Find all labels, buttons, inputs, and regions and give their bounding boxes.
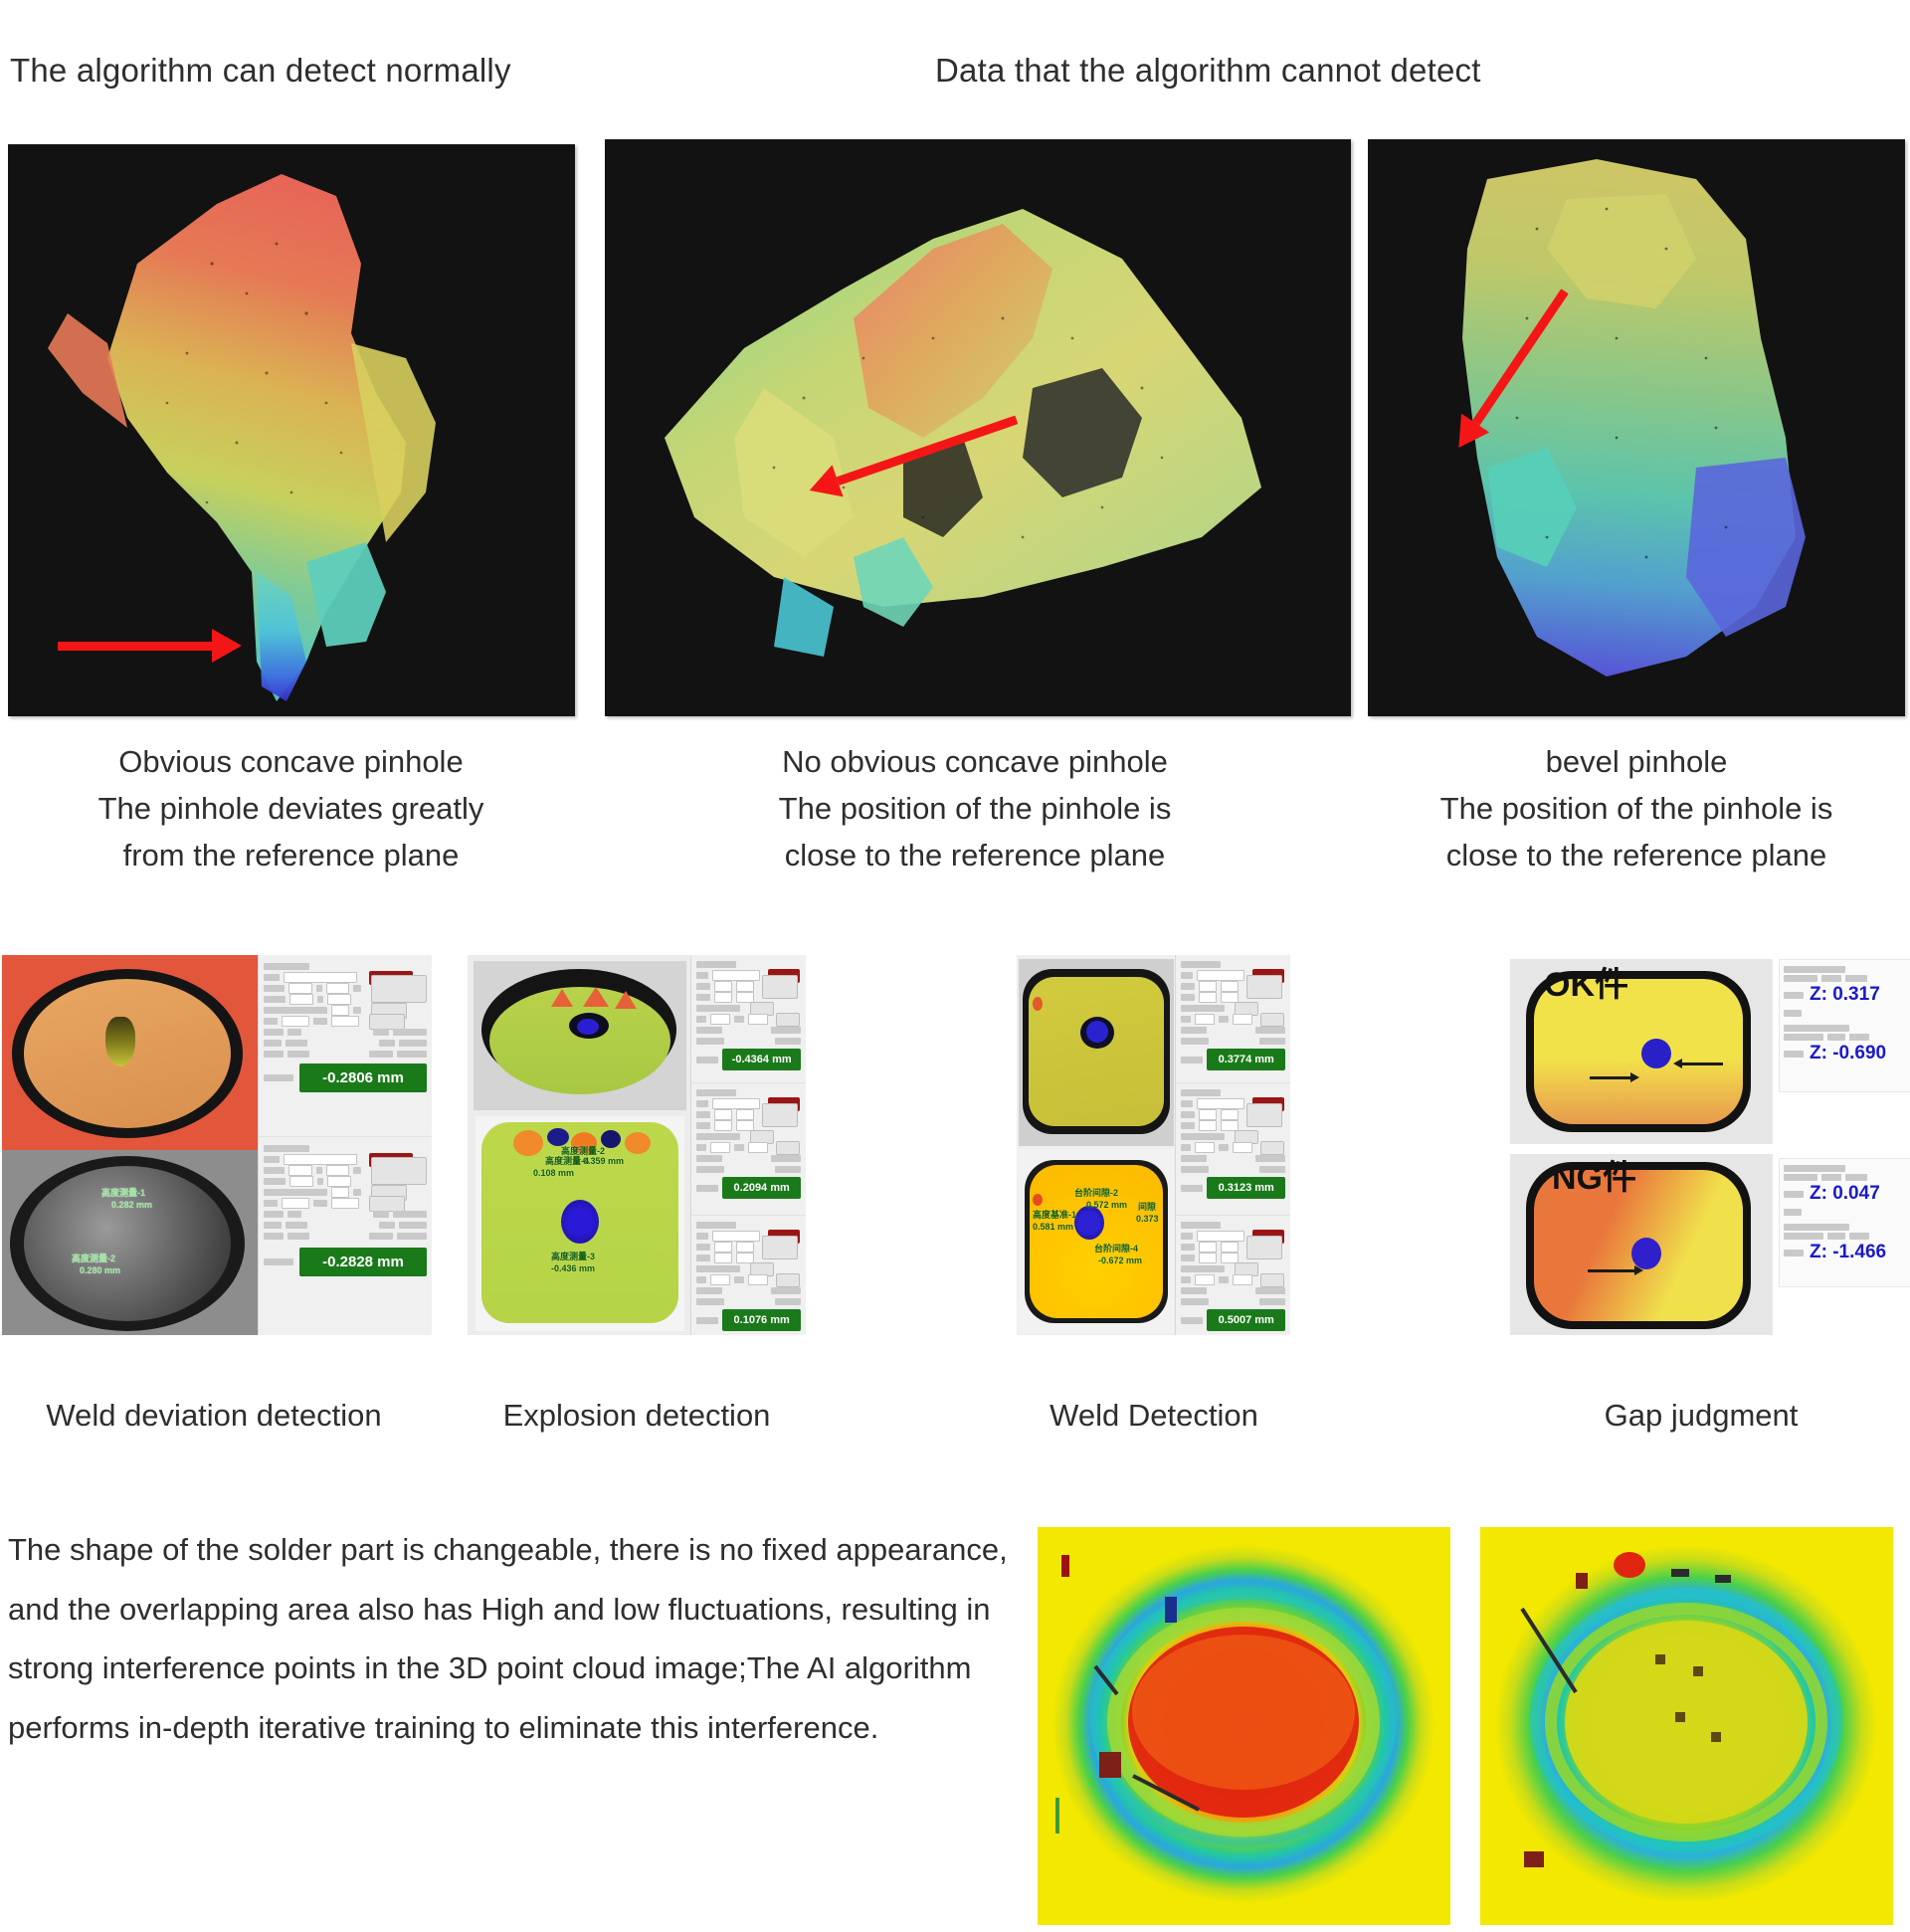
pointcloud-image-1 [8, 144, 575, 716]
explosion-annotation-2-value: 0.359 mm [583, 1156, 624, 1166]
gap-ok-readout: Z: 0.317 Z: -0.690 [1779, 959, 1910, 1092]
weld-deviation-color-view [2, 955, 258, 1150]
gap-ng-z2: Z: -1.466 [1810, 1242, 1886, 1263]
explosion-value-3: 0.1076 mm [722, 1309, 801, 1331]
heading-detectable: The algorithm can detect normally [10, 52, 511, 90]
gap-ok-z1: Z: 0.317 [1810, 984, 1880, 1006]
explosion-value-1: -0.4364 mm [722, 1049, 801, 1070]
weld-annotation-1-value: 0.581 mm [1033, 1222, 1073, 1232]
heatmap-render-1 [1038, 1527, 1450, 1925]
gray-annotation-2-value: 0.280 mm [80, 1265, 120, 1275]
explosion-heatmap-view: 高度测量-2 0.359 mm 高度测量-4 0.108 mm 高度测量-3 -… [476, 1116, 684, 1331]
gap-ok-label: OK件 [1544, 959, 1628, 1006]
detection-caption-1: Weld deviation detection [0, 1398, 428, 1434]
heatmap-image-2 [1480, 1527, 1893, 1925]
gap-ok-image: OK件 [1510, 959, 1773, 1144]
explosion-value-2: 0.2094 mm [722, 1177, 801, 1199]
detection-panel-weld: 台阶间隙-2 0.572 mm 高度基准-1 0.581 mm 台阶间隙-4 -… [1017, 955, 1290, 1335]
gap-ok-z2: Z: -0.690 [1810, 1043, 1886, 1064]
weld-deviation-images: 高度测量-1 0.282 mm 高度测量-2 0.280 mm [2, 955, 258, 1335]
weld-deviation-value-2: -0.2828 mm [299, 1248, 427, 1276]
gap-ng-label: NG件 [1552, 1154, 1636, 1199]
pointcloud-image-2 [605, 139, 1351, 716]
weld-annotation-2-value: 0.572 mm [1086, 1200, 1127, 1210]
pointcloud-image-3 [1368, 139, 1905, 716]
detection-caption-4: Gap judgment [1492, 1398, 1910, 1434]
heading-undetectable: Data that the algorithm cannot detect [935, 52, 1481, 90]
pointcloud-caption-2: No obvious concave pinhole The position … [597, 738, 1353, 878]
gap-ng-readout: Z: 0.047 Z: -1.466 [1779, 1158, 1910, 1287]
weld-annotation-4-value: -0.672 mm [1098, 1256, 1142, 1265]
explosion-images: 高度测量-2 0.359 mm 高度测量-4 0.108 mm 高度测量-3 -… [468, 955, 690, 1335]
weld-deviation-ui-panel[interactable]: -0.2806 mm -0.2828 mm [258, 955, 432, 1335]
detection-caption-3: Weld Detection [995, 1398, 1313, 1434]
pointcloud-caption-1: Obvious concave pinhole The pinhole devi… [0, 738, 582, 878]
pointcloud-caption-3: bevel pinhole The position of the pinhol… [1363, 738, 1910, 878]
weld-value-2: 0.3123 mm [1207, 1177, 1285, 1199]
weld-value-1: 0.3774 mm [1207, 1049, 1285, 1070]
weld-ui-panel[interactable]: 0.3774 mm 0.3123 mm [1175, 955, 1290, 1335]
explosion-ui-panel[interactable]: -0.4364 mm 0.2094 mm [690, 955, 806, 1335]
gray-annotation-1-value: 0.282 mm [111, 1200, 152, 1210]
weld-3d-view [1019, 959, 1174, 1146]
slide-root: The algorithm can detect normally Data t… [0, 0, 1910, 1932]
weld-heatmap-view: 台阶间隙-2 0.572 mm 高度基准-1 0.581 mm 台阶间隙-4 -… [1019, 1150, 1174, 1333]
heatmap-render-2 [1480, 1527, 1893, 1925]
gap-ng-z1: Z: 0.047 [1810, 1183, 1880, 1205]
weld-deviation-gray-view: 高度测量-1 0.282 mm 高度测量-2 0.280 mm [2, 1150, 258, 1335]
detection-caption-2: Explosion detection [448, 1398, 826, 1434]
explosion-3d-view [474, 961, 686, 1110]
gap-ok-row: OK件 Z: 0.317 Z: -0.690 [1504, 959, 1910, 1144]
detection-panel-weld-deviation: 高度测量-1 0.282 mm 高度测量-2 0.280 mm -0.2806 … [2, 955, 432, 1335]
weld-deviation-value-1: -0.2806 mm [299, 1063, 427, 1092]
heatmap-image-1 [1038, 1527, 1450, 1925]
weld-annotation-gap-value: 0.373 [1136, 1214, 1159, 1224]
gray-annotation-1: 高度测量-1 [101, 1186, 145, 1199]
summary-paragraph: The shape of the solder part is changeab… [8, 1520, 1013, 1757]
pointcloud-render-3 [1368, 139, 1905, 716]
annotation-arrow-1 [58, 629, 245, 663]
gray-annotation-2: 高度测量-2 [72, 1252, 115, 1264]
explosion-annotation-4-value: 0.108 mm [533, 1168, 574, 1178]
detection-panel-explosion: 高度测量-2 0.359 mm 高度测量-4 0.108 mm 高度测量-3 -… [468, 955, 806, 1335]
weld-images: 台阶间隙-2 0.572 mm 高度基准-1 0.581 mm 台阶间隙-4 -… [1017, 955, 1175, 1335]
explosion-annotation-3-value: -0.436 mm [551, 1263, 595, 1273]
gap-ng-row: NG件 Z: 0.047 Z: -1.466 [1504, 1154, 1910, 1335]
gap-ng-image: NG件 [1510, 1154, 1773, 1335]
weld-value-3: 0.5007 mm [1207, 1309, 1285, 1331]
detection-panel-gap: OK件 Z: 0.317 Z: -0.690 NG件 [1500, 955, 1910, 1335]
